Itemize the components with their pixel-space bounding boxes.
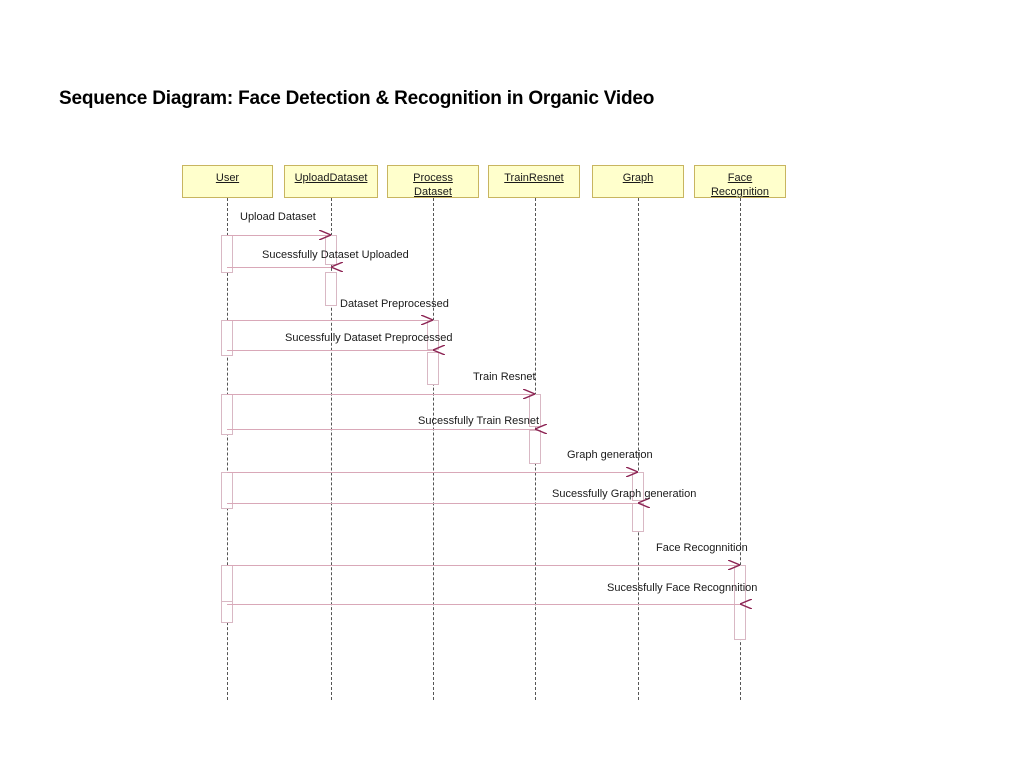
arrowhead-right-icon xyxy=(421,315,433,325)
message-label-10: Sucessfully Face Recognnition xyxy=(607,582,757,595)
participant-label: Face Recognition xyxy=(711,171,769,199)
sequence-diagram: UserUploadDatasetProcess DatasetTrainRes… xyxy=(0,0,1024,768)
participant-upload_dataset[interactable]: UploadDataset xyxy=(284,165,378,198)
activation-bar-upload_dataset xyxy=(325,272,337,306)
arrowhead-left-icon xyxy=(433,345,445,355)
message-line-1 xyxy=(227,235,331,236)
participant-graph[interactable]: Graph xyxy=(592,165,684,198)
message-line-6 xyxy=(227,429,535,430)
arrowhead-left-icon xyxy=(331,262,343,272)
arrowhead-left-icon xyxy=(740,599,752,609)
participant-label: TrainResnet xyxy=(504,171,564,185)
activation-bar-user xyxy=(221,565,233,605)
message-line-2 xyxy=(227,267,331,268)
message-label-9: Face Recognnition xyxy=(656,542,748,555)
participant-face_recognition[interactable]: Face Recognition xyxy=(694,165,786,198)
message-label-5: Train Resnet xyxy=(473,371,536,384)
message-line-8 xyxy=(227,503,638,504)
message-label-6: Sucessfully Train Resnet xyxy=(418,415,539,428)
participant-label: Graph xyxy=(623,171,654,185)
lifeline-user xyxy=(227,198,228,700)
arrowhead-right-icon xyxy=(523,389,535,399)
participant-label: User xyxy=(216,171,239,185)
participant-process_dataset[interactable]: Process Dataset xyxy=(387,165,479,198)
arrowhead-right-icon xyxy=(319,230,331,240)
arrowhead-right-icon xyxy=(728,560,740,570)
message-line-7 xyxy=(227,472,638,473)
message-label-7: Graph generation xyxy=(567,449,653,462)
participant-label: Process Dataset xyxy=(413,171,453,199)
activation-bar-process_dataset xyxy=(427,352,439,385)
message-label-2: Sucessfully Dataset Uploaded xyxy=(262,249,409,262)
message-line-9 xyxy=(227,565,740,566)
message-line-4 xyxy=(227,350,433,351)
lifeline-process_dataset xyxy=(433,198,434,700)
arrowhead-right-icon xyxy=(626,467,638,477)
participant-user[interactable]: User xyxy=(182,165,273,198)
message-label-3: Dataset Preprocessed xyxy=(340,298,449,311)
message-line-5 xyxy=(227,394,535,395)
activation-bar-train_resnet xyxy=(529,430,541,464)
message-line-10 xyxy=(227,604,740,605)
message-label-8: Sucessfully Graph generation xyxy=(552,488,696,501)
message-label-4: Sucessfully Dataset Preprocessed xyxy=(285,332,453,345)
participant-train_resnet[interactable]: TrainResnet xyxy=(488,165,580,198)
participant-label: UploadDataset xyxy=(295,171,368,185)
message-label-1: Upload Dataset xyxy=(240,211,316,224)
message-line-3 xyxy=(227,320,433,321)
